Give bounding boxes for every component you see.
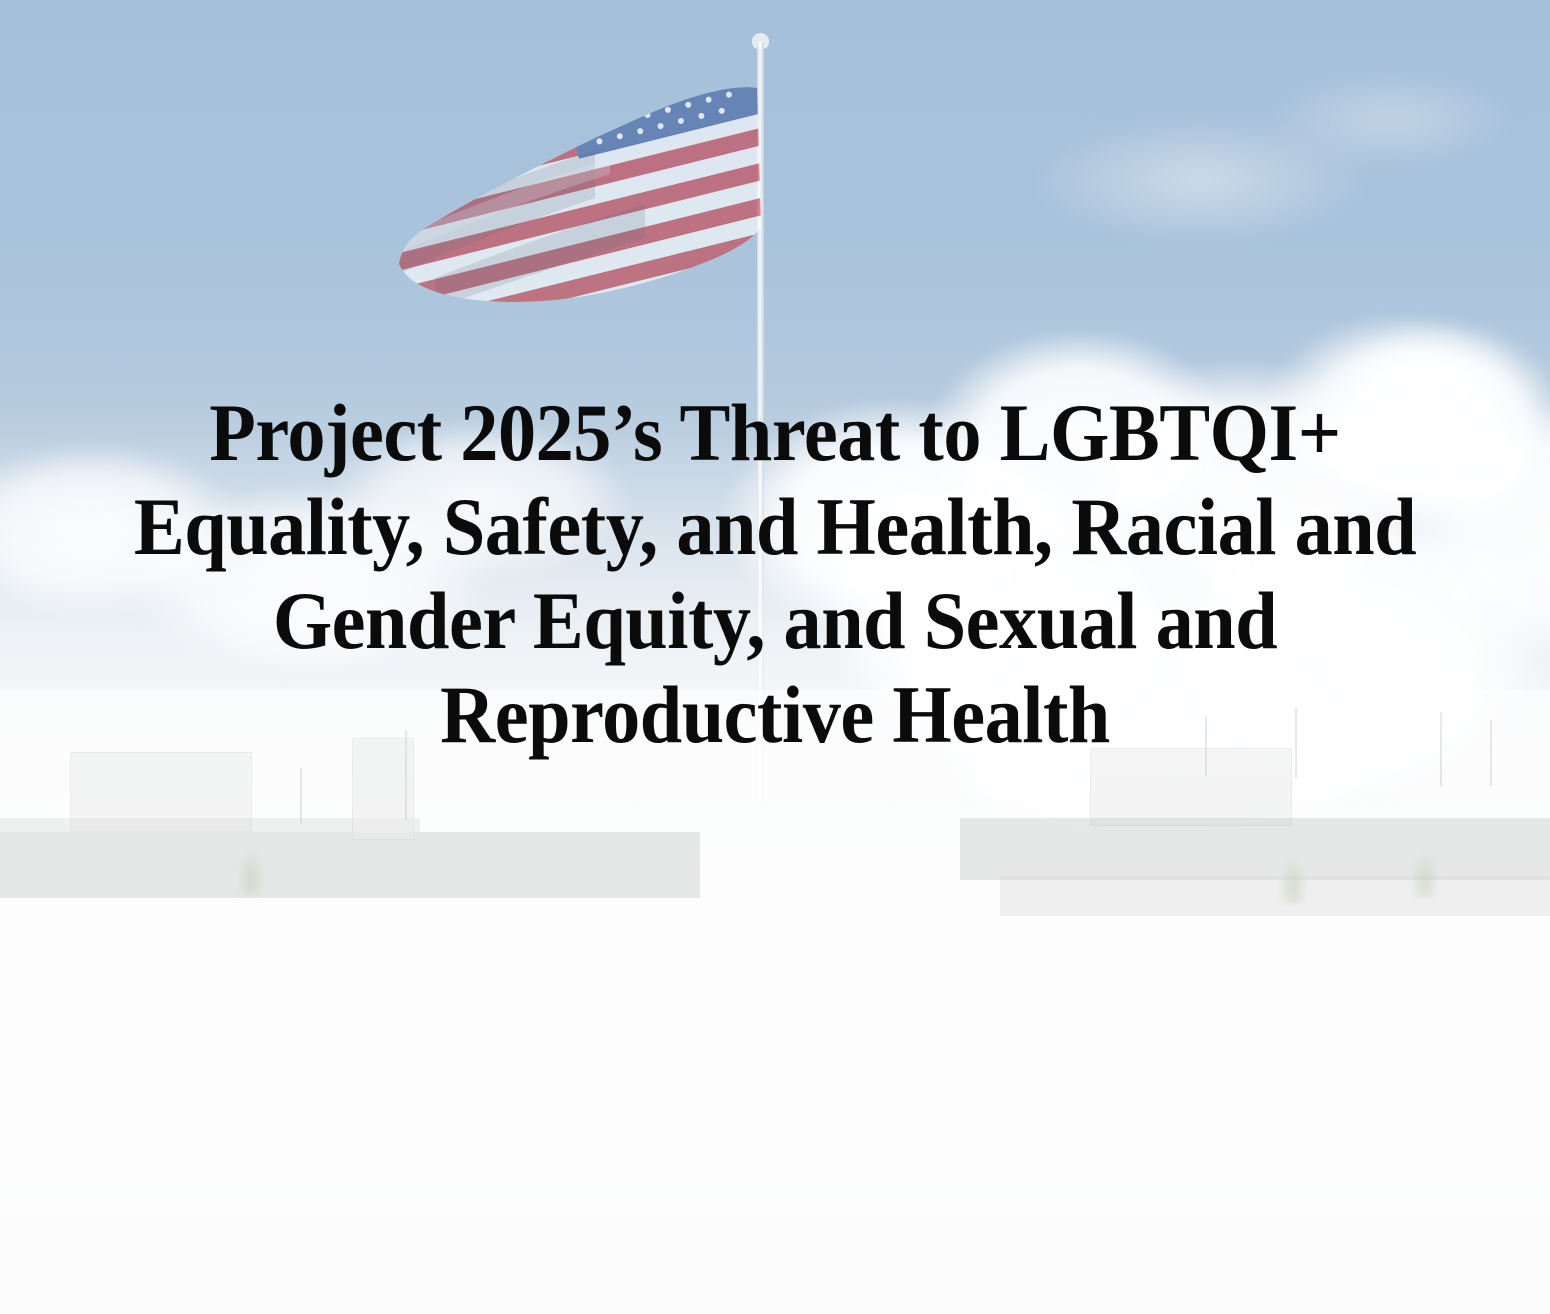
roof-antenna-6 <box>1490 720 1492 786</box>
roof-structure-left <box>70 752 252 832</box>
white-house-building <box>0 690 1550 1314</box>
roof-antenna-1 <box>300 768 302 824</box>
roof-slab-left <box>0 818 420 832</box>
flagpole-finial <box>752 33 769 49</box>
page-title-text: Project 2025’s Threat to LGBTQI+ Equalit… <box>124 386 1426 762</box>
roof-greenery-right <box>1280 860 1306 904</box>
roof-slab-right <box>1000 876 1550 916</box>
american-flag-icon <box>395 78 765 343</box>
page-title: Project 2025’s Threat to LGBTQI+ Equalit… <box>75 386 1475 762</box>
roof-parapet-right <box>960 818 1550 880</box>
roof-parapet-left <box>0 832 700 898</box>
roof-greenery-left <box>238 852 264 896</box>
hero-banner: Project 2025’s Threat to LGBTQI+ Equalit… <box>0 0 1550 1314</box>
roof-greenery-right-2 <box>1412 854 1438 898</box>
building-wash-overlay <box>0 690 1550 1314</box>
cloud-wisp-top <box>940 30 1550 290</box>
